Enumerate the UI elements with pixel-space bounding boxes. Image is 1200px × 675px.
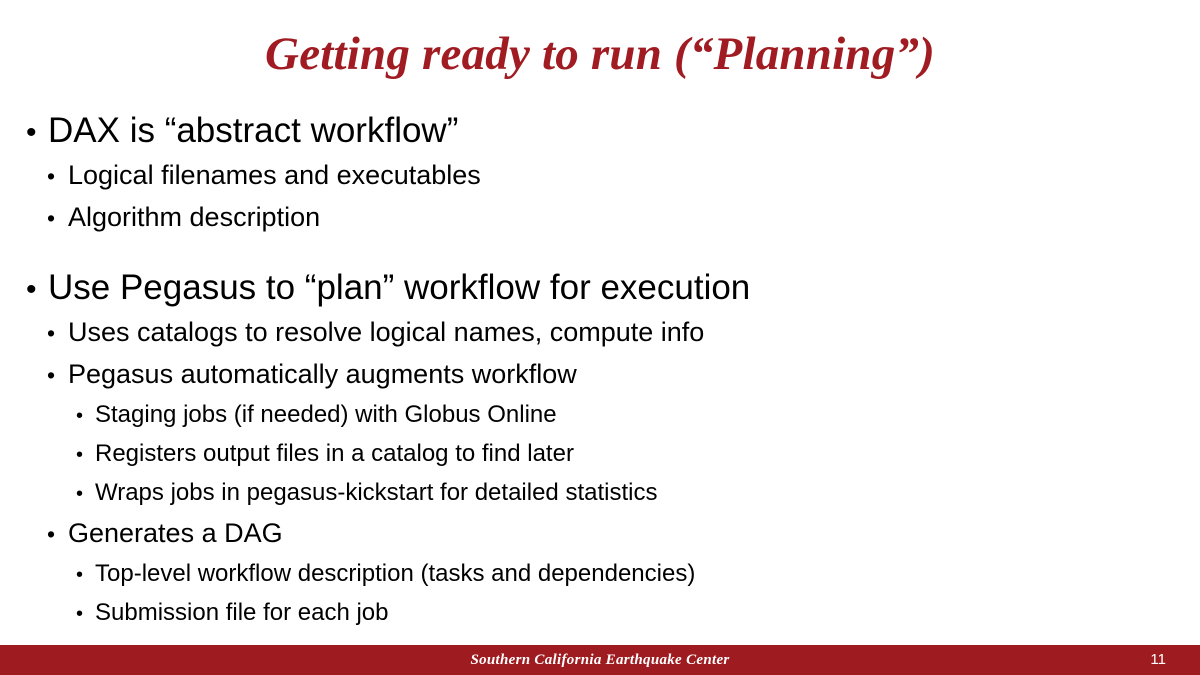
bullet-dot-icon: • [47, 355, 68, 396]
slide-page-number: 11 [1150, 645, 1166, 675]
bullet-level3: • Wraps jobs in pegasus-kickstart for de… [0, 474, 1200, 513]
bullet-level2: • Logical filenames and executables [0, 155, 1200, 197]
bullet-text: DAX is “abstract workflow” [48, 108, 458, 153]
bullet-level3: • Submission file for each job [0, 594, 1200, 633]
slide-footer: Southern California Earthquake Center 11 [0, 645, 1200, 675]
bullet-dot-icon: • [47, 198, 68, 239]
bullet-dot-icon: • [76, 476, 95, 513]
bullet-text: Staging jobs (if needed) with Globus Onl… [95, 396, 557, 433]
bullet-level2: • Generates a DAG [0, 513, 1200, 555]
bullet-dot-icon: • [76, 557, 95, 594]
footer-organization-label: Southern California Earthquake Center [0, 645, 1200, 675]
bullet-group: • DAX is “abstract workflow” • Logical f… [0, 108, 1200, 239]
bullet-text: Logical filenames and executables [68, 155, 481, 196]
bullet-dot-icon: • [26, 110, 48, 155]
bullet-text: Wraps jobs in pegasus-kickstart for deta… [95, 474, 657, 511]
bullet-text: Use Pegasus to “plan” workflow for execu… [48, 265, 750, 310]
bullet-level2: • Uses catalogs to resolve logical names… [0, 312, 1200, 354]
bullet-text: Generates a DAG [68, 513, 283, 554]
bullet-level3: • Staging jobs (if needed) with Globus O… [0, 396, 1200, 435]
presentation-slide: Getting ready to run (“Planning”) • DAX … [0, 0, 1200, 675]
bullet-dot-icon: • [47, 156, 68, 197]
bullet-group: • Use Pegasus to “plan” workflow for exe… [0, 265, 1200, 633]
bullet-text: Top-level workflow description (tasks an… [95, 555, 695, 592]
page-title: Getting ready to run (“Planning”) [0, 25, 1200, 83]
bullet-level1: • Use Pegasus to “plan” workflow for exe… [0, 265, 1200, 312]
bullet-dot-icon: • [47, 514, 68, 555]
bullet-dot-icon: • [76, 437, 95, 474]
bullet-dot-icon: • [76, 596, 95, 633]
bullet-dot-icon: • [47, 313, 68, 354]
bullet-text: Pegasus automatically augments workflow [68, 354, 577, 395]
bullet-level2: • Algorithm description [0, 197, 1200, 239]
bullet-text: Submission file for each job [95, 594, 388, 631]
bullet-level3: • Top-level workflow description (tasks … [0, 555, 1200, 594]
bullet-dot-icon: • [76, 398, 95, 435]
bullet-level1: • DAX is “abstract workflow” [0, 108, 1200, 155]
slide-body: • DAX is “abstract workflow” • Logical f… [0, 108, 1200, 633]
bullet-text: Uses catalogs to resolve logical names, … [68, 312, 704, 353]
bullet-dot-icon: • [26, 267, 48, 312]
bullet-level3: • Registers output files in a catalog to… [0, 435, 1200, 474]
bullet-level2: • Pegasus automatically augments workflo… [0, 354, 1200, 396]
bullet-text: Algorithm description [68, 197, 320, 238]
bullet-text: Registers output files in a catalog to f… [95, 435, 574, 472]
